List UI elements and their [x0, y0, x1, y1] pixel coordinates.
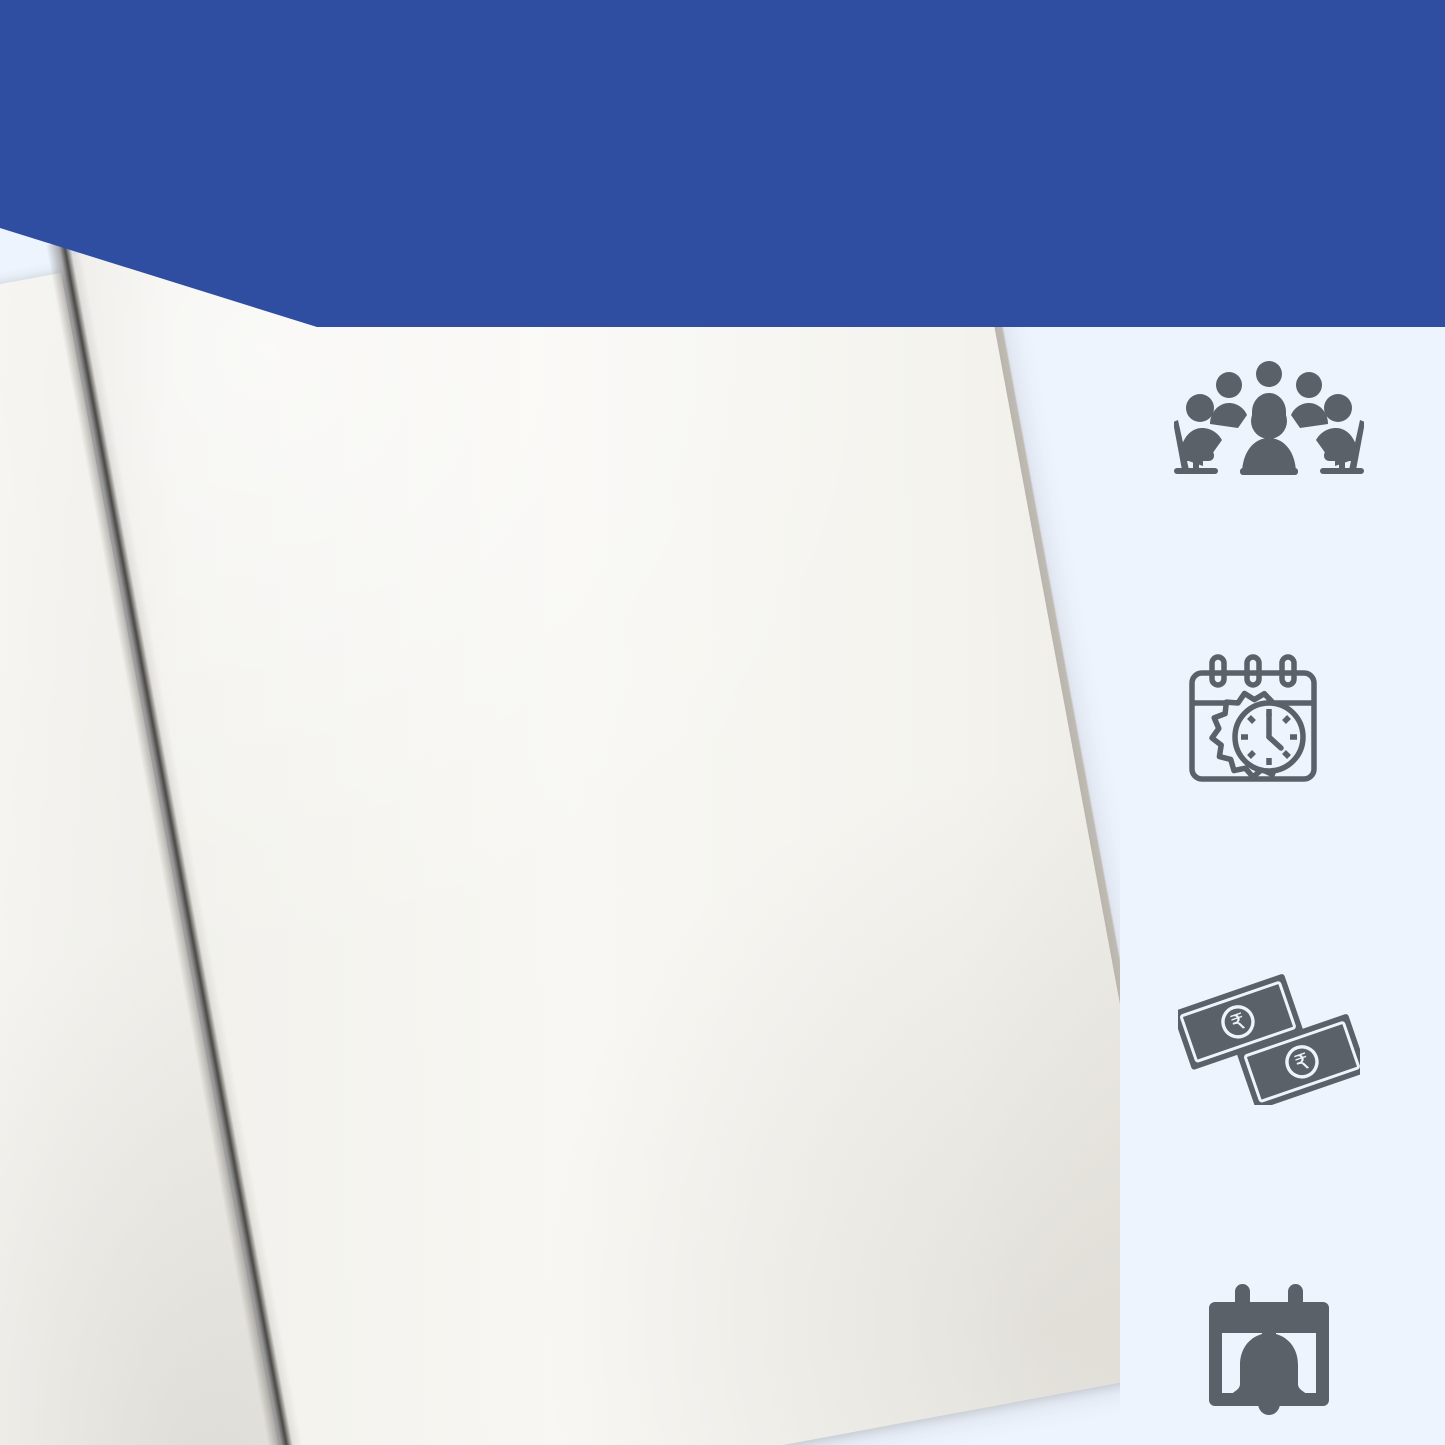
feature-item-payments[interactable]: ₹ ₹	[1093, 973, 1445, 1114]
calendar-bell-icon	[1199, 1280, 1339, 1425]
feature-item-reminders[interactable]	[1093, 1280, 1445, 1429]
open-notebook	[0, 190, 1120, 1445]
calendar-clock-gear-icon	[1183, 651, 1355, 802]
rupee-banknotes-icon: ₹ ₹	[1178, 973, 1360, 1110]
poster-canvas: ₹ ₹	[0, 0, 1445, 1445]
feature-item-meetings[interactable]	[1093, 358, 1445, 485]
header-banner	[0, 0, 1445, 330]
feature-list: ₹ ₹	[1093, 352, 1445, 1445]
feature-item-deadlines[interactable]	[1093, 651, 1445, 806]
meeting-people-table-icon	[1174, 358, 1364, 481]
planner-photo	[0, 190, 1120, 1445]
